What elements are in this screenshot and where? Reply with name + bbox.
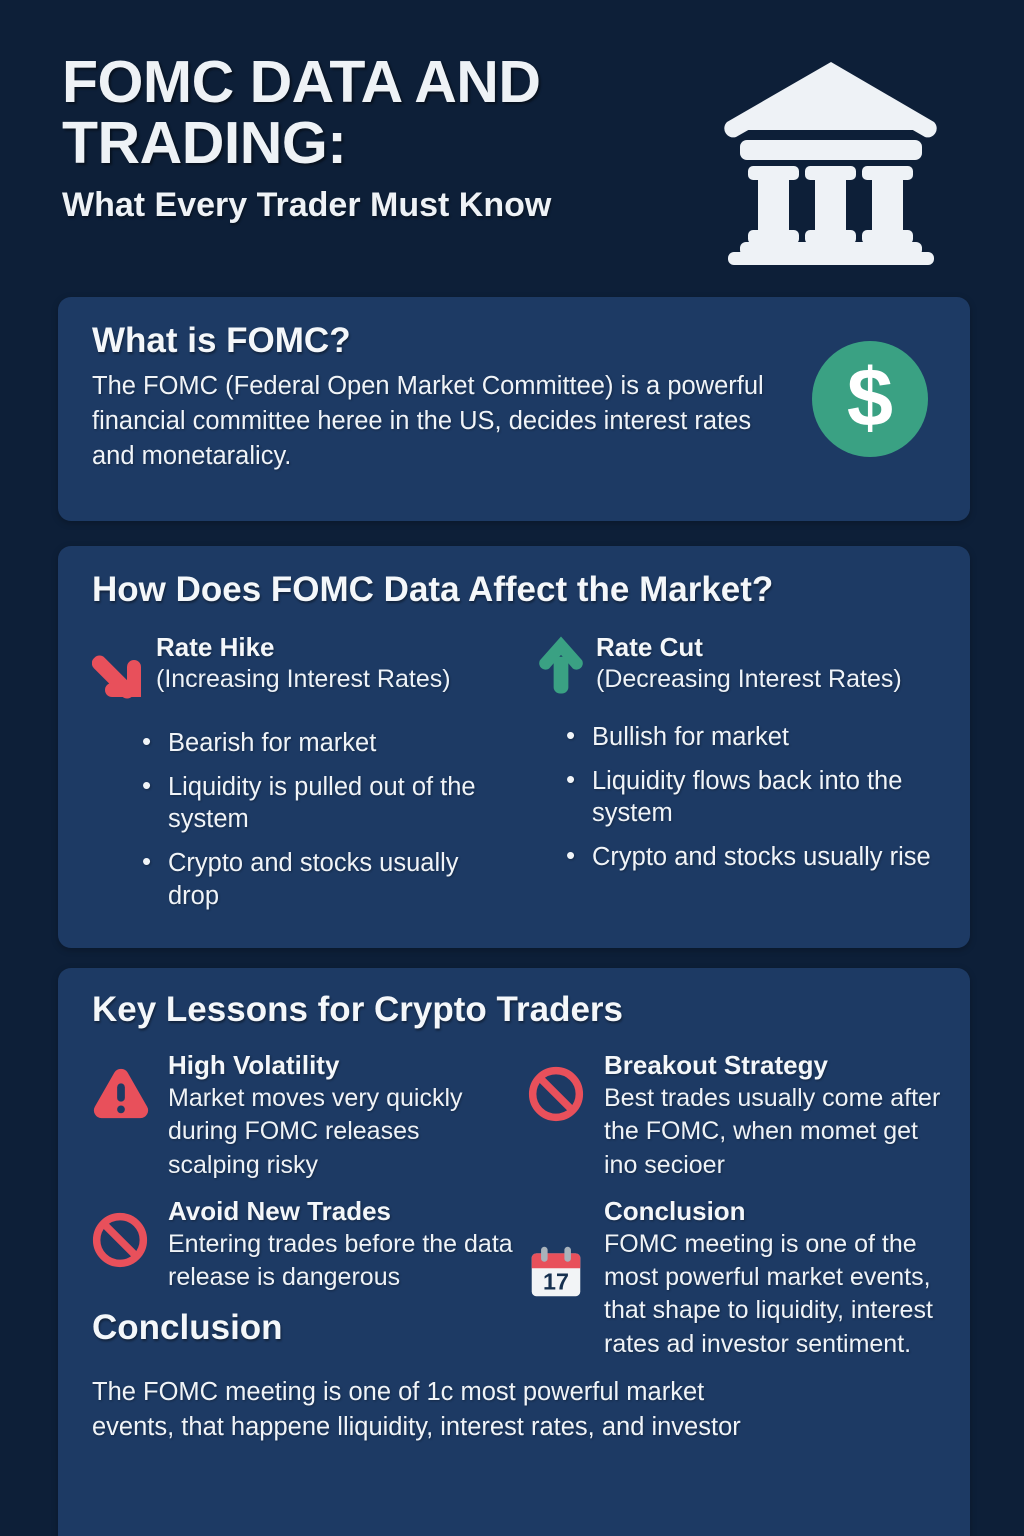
rate-cut-title: Rate Cut [596,632,902,663]
arrow-up-icon [538,632,596,701]
title-block: FOMC DATA AND TRADING: What Every Trader… [62,52,702,225]
list-item: Crypto and stocks usually rise [564,841,940,874]
list-item: Liquidity is pulled out of the system [140,771,516,836]
lesson-body: Entering trades before the data release … [168,1228,518,1295]
card-market-impact: How Does FOMC Data Affect the Market? Ra… [58,546,970,948]
key-lessons-grid: High Volatility Market moves very quickl… [92,1050,944,1445]
lesson-title: Breakout Strategy [604,1050,944,1081]
rate-hike-title: Rate Hike [156,632,451,663]
lesson-body: FOMC meeting is one of the most powerful… [604,1228,944,1361]
rate-hike-header: Rate Hike (Increasing Interest Rates) [92,632,516,707]
what-is-fomc-heading: What is FOMC? [92,321,938,361]
rate-cut-header: Rate Cut (Decreasing Interest Rates) [538,632,940,701]
final-conclusion-heading: Conclusion [92,1308,508,1348]
what-is-fomc-body: The FOMC (Federal Open Market Committee)… [92,369,782,474]
list-item: Bearish for market [140,727,516,760]
calendar-icon: 17 [528,1196,604,1361]
market-impact-columns: Rate Hike (Increasing Interest Rates) Be… [92,632,940,923]
rate-hike-bullets: Bearish for market Liquidity is pulled o… [92,727,516,912]
list-item: Bullish for market [564,721,940,754]
lesson-avoid-new-trades-text: Avoid New Trades Entering trades before … [168,1196,518,1295]
infographic-page: FOMC DATA AND TRADING: What Every Trader… [0,0,1024,1536]
list-item: Crypto and stocks usually drop [140,847,516,912]
rate-cut-subtitle: (Decreasing Interest Rates) [596,665,902,694]
market-impact-heading: How Does FOMC Data Affect the Market? [92,570,940,610]
key-lessons-row-1: High Volatility Market moves very quickl… [92,1050,944,1196]
lesson-high-volatility: High Volatility Market moves very quickl… [92,1050,518,1182]
page-title-line1: FOMC DATA AND [62,52,702,113]
lesson-body: Market moves very quickly during FOMC re… [168,1082,518,1182]
card-key-lessons: Key Lessons for Crypto Traders High Vola… [58,968,970,1536]
lesson-conclusion: 17 Conclusion FOMC meeting is one of the… [528,1196,944,1361]
prohibition-icon [92,1196,168,1295]
lesson-title: High Volatility [168,1050,518,1081]
lesson-conclusion-text: Conclusion FOMC meeting is one of the mo… [604,1196,944,1361]
column-rate-cut: Rate Cut (Decreasing Interest Rates) Bul… [516,632,940,923]
final-conclusion-block: Conclusion [92,1308,518,1348]
calendar-day-text: 17 [543,1268,569,1294]
final-conclusion-body-wrap: The FOMC meeting is one of 1c most power… [92,1375,944,1445]
list-item: Liquidity flows back into the system [564,765,940,830]
page-title: FOMC DATA AND TRADING: [62,52,702,175]
lesson-avoid-new-trades: Avoid New Trades Entering trades before … [92,1196,518,1295]
card-what-is-fomc: What is FOMC? The FOMC (Federal Open Mar… [58,297,970,521]
bank-building-icon [722,56,940,266]
rate-cut-titles: Rate Cut (Decreasing Interest Rates) [596,632,902,694]
lesson-breakout-strategy-text: Breakout Strategy Best trades usually co… [604,1050,944,1182]
rate-cut-bullets: Bullish for market Liquidity flows back … [538,721,940,874]
key-lessons-heading: Key Lessons for Crypto Traders [92,990,944,1030]
lesson-title: Avoid New Trades [168,1196,518,1227]
arrow-down-right-icon [92,632,156,707]
page-subtitle: What Every Trader Must Know [62,186,702,225]
final-conclusion-body: The FOMC meeting is one of 1c most power… [92,1375,792,1445]
lesson-title: Conclusion [604,1196,944,1227]
rate-hike-subtitle: (Increasing Interest Rates) [156,665,451,694]
rate-hike-titles: Rate Hike (Increasing Interest Rates) [156,632,451,694]
lesson-breakout-strategy: Breakout Strategy Best trades usually co… [518,1050,944,1182]
page-title-line2: TRADING: [62,113,702,174]
key-lessons-row-2: Avoid New Trades Entering trades before … [92,1196,944,1375]
key-lessons-left-column: Avoid New Trades Entering trades before … [92,1196,518,1375]
header: FOMC DATA AND TRADING: What Every Trader… [58,46,978,276]
key-lessons-right-column: 17 Conclusion FOMC meeting is one of the… [518,1196,944,1375]
column-rate-hike: Rate Hike (Increasing Interest Rates) Be… [92,632,516,923]
dollar-symbol: $ [847,356,893,439]
dollar-circle-icon: $ [812,341,928,457]
warning-triangle-icon [92,1050,168,1182]
lesson-body: Best trades usually come after the FOMC,… [604,1082,944,1182]
lesson-high-volatility-text: High Volatility Market moves very quickl… [168,1050,518,1182]
prohibition-icon [528,1050,604,1182]
